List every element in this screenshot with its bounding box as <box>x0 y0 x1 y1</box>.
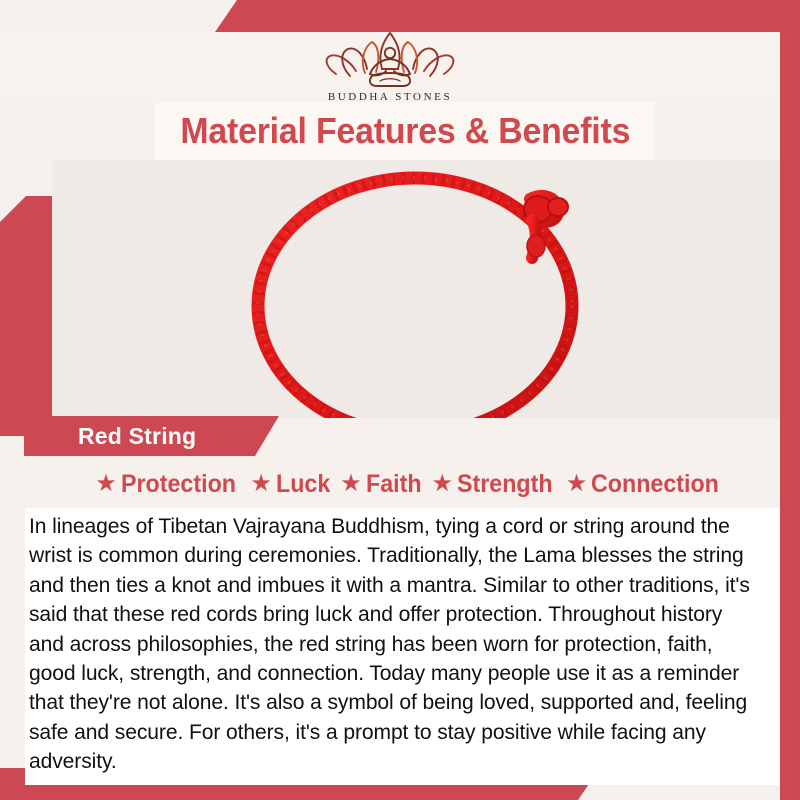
red-braided-string-bracelet-icon <box>200 160 640 418</box>
brand-logo: BUDDHA STONES <box>320 29 460 103</box>
decor-band-right <box>780 32 800 800</box>
feature-item-luck: ★ Luck <box>250 470 334 499</box>
star-icon: ★ <box>250 472 272 496</box>
brand-header: BUDDHA STONES <box>0 32 780 100</box>
feature-label: Connection <box>591 470 719 499</box>
star-icon: ★ <box>431 472 453 496</box>
star-icon: ★ <box>566 472 588 496</box>
feature-item-faith: ★ Faith <box>340 470 425 499</box>
page-title: Material Features & Benefits <box>180 110 630 152</box>
infographic-page: BUDDHA STONES Material Features & Benefi… <box>0 0 800 800</box>
product-name-label: Red String <box>24 423 196 450</box>
feature-label: Protection <box>121 470 236 499</box>
feature-item-protection: ★ Protection <box>95 470 244 499</box>
lotus-meditation-icon <box>320 29 460 89</box>
description-text: In lineages of Tibetan Vajrayana Buddhis… <box>29 512 761 777</box>
decor-band-top <box>215 0 800 32</box>
feature-label: Strength <box>457 470 553 499</box>
description-container: In lineages of Tibetan Vajrayana Buddhis… <box>25 508 780 785</box>
feature-label: Faith <box>366 470 422 499</box>
decor-band-left <box>0 196 52 436</box>
product-image <box>52 160 780 418</box>
feature-item-strength: ★ Strength <box>431 470 559 499</box>
page-title-container: Material Features & Benefits <box>155 102 655 160</box>
feature-list: ★ Protection ★ Luck ★ Faith ★ Strength ★… <box>52 463 772 505</box>
product-name-banner: Red String <box>24 416 279 456</box>
star-icon: ★ <box>340 472 362 496</box>
feature-item-connection: ★ Connection <box>566 470 729 499</box>
star-icon: ★ <box>95 472 117 496</box>
feature-label: Luck <box>276 470 330 499</box>
